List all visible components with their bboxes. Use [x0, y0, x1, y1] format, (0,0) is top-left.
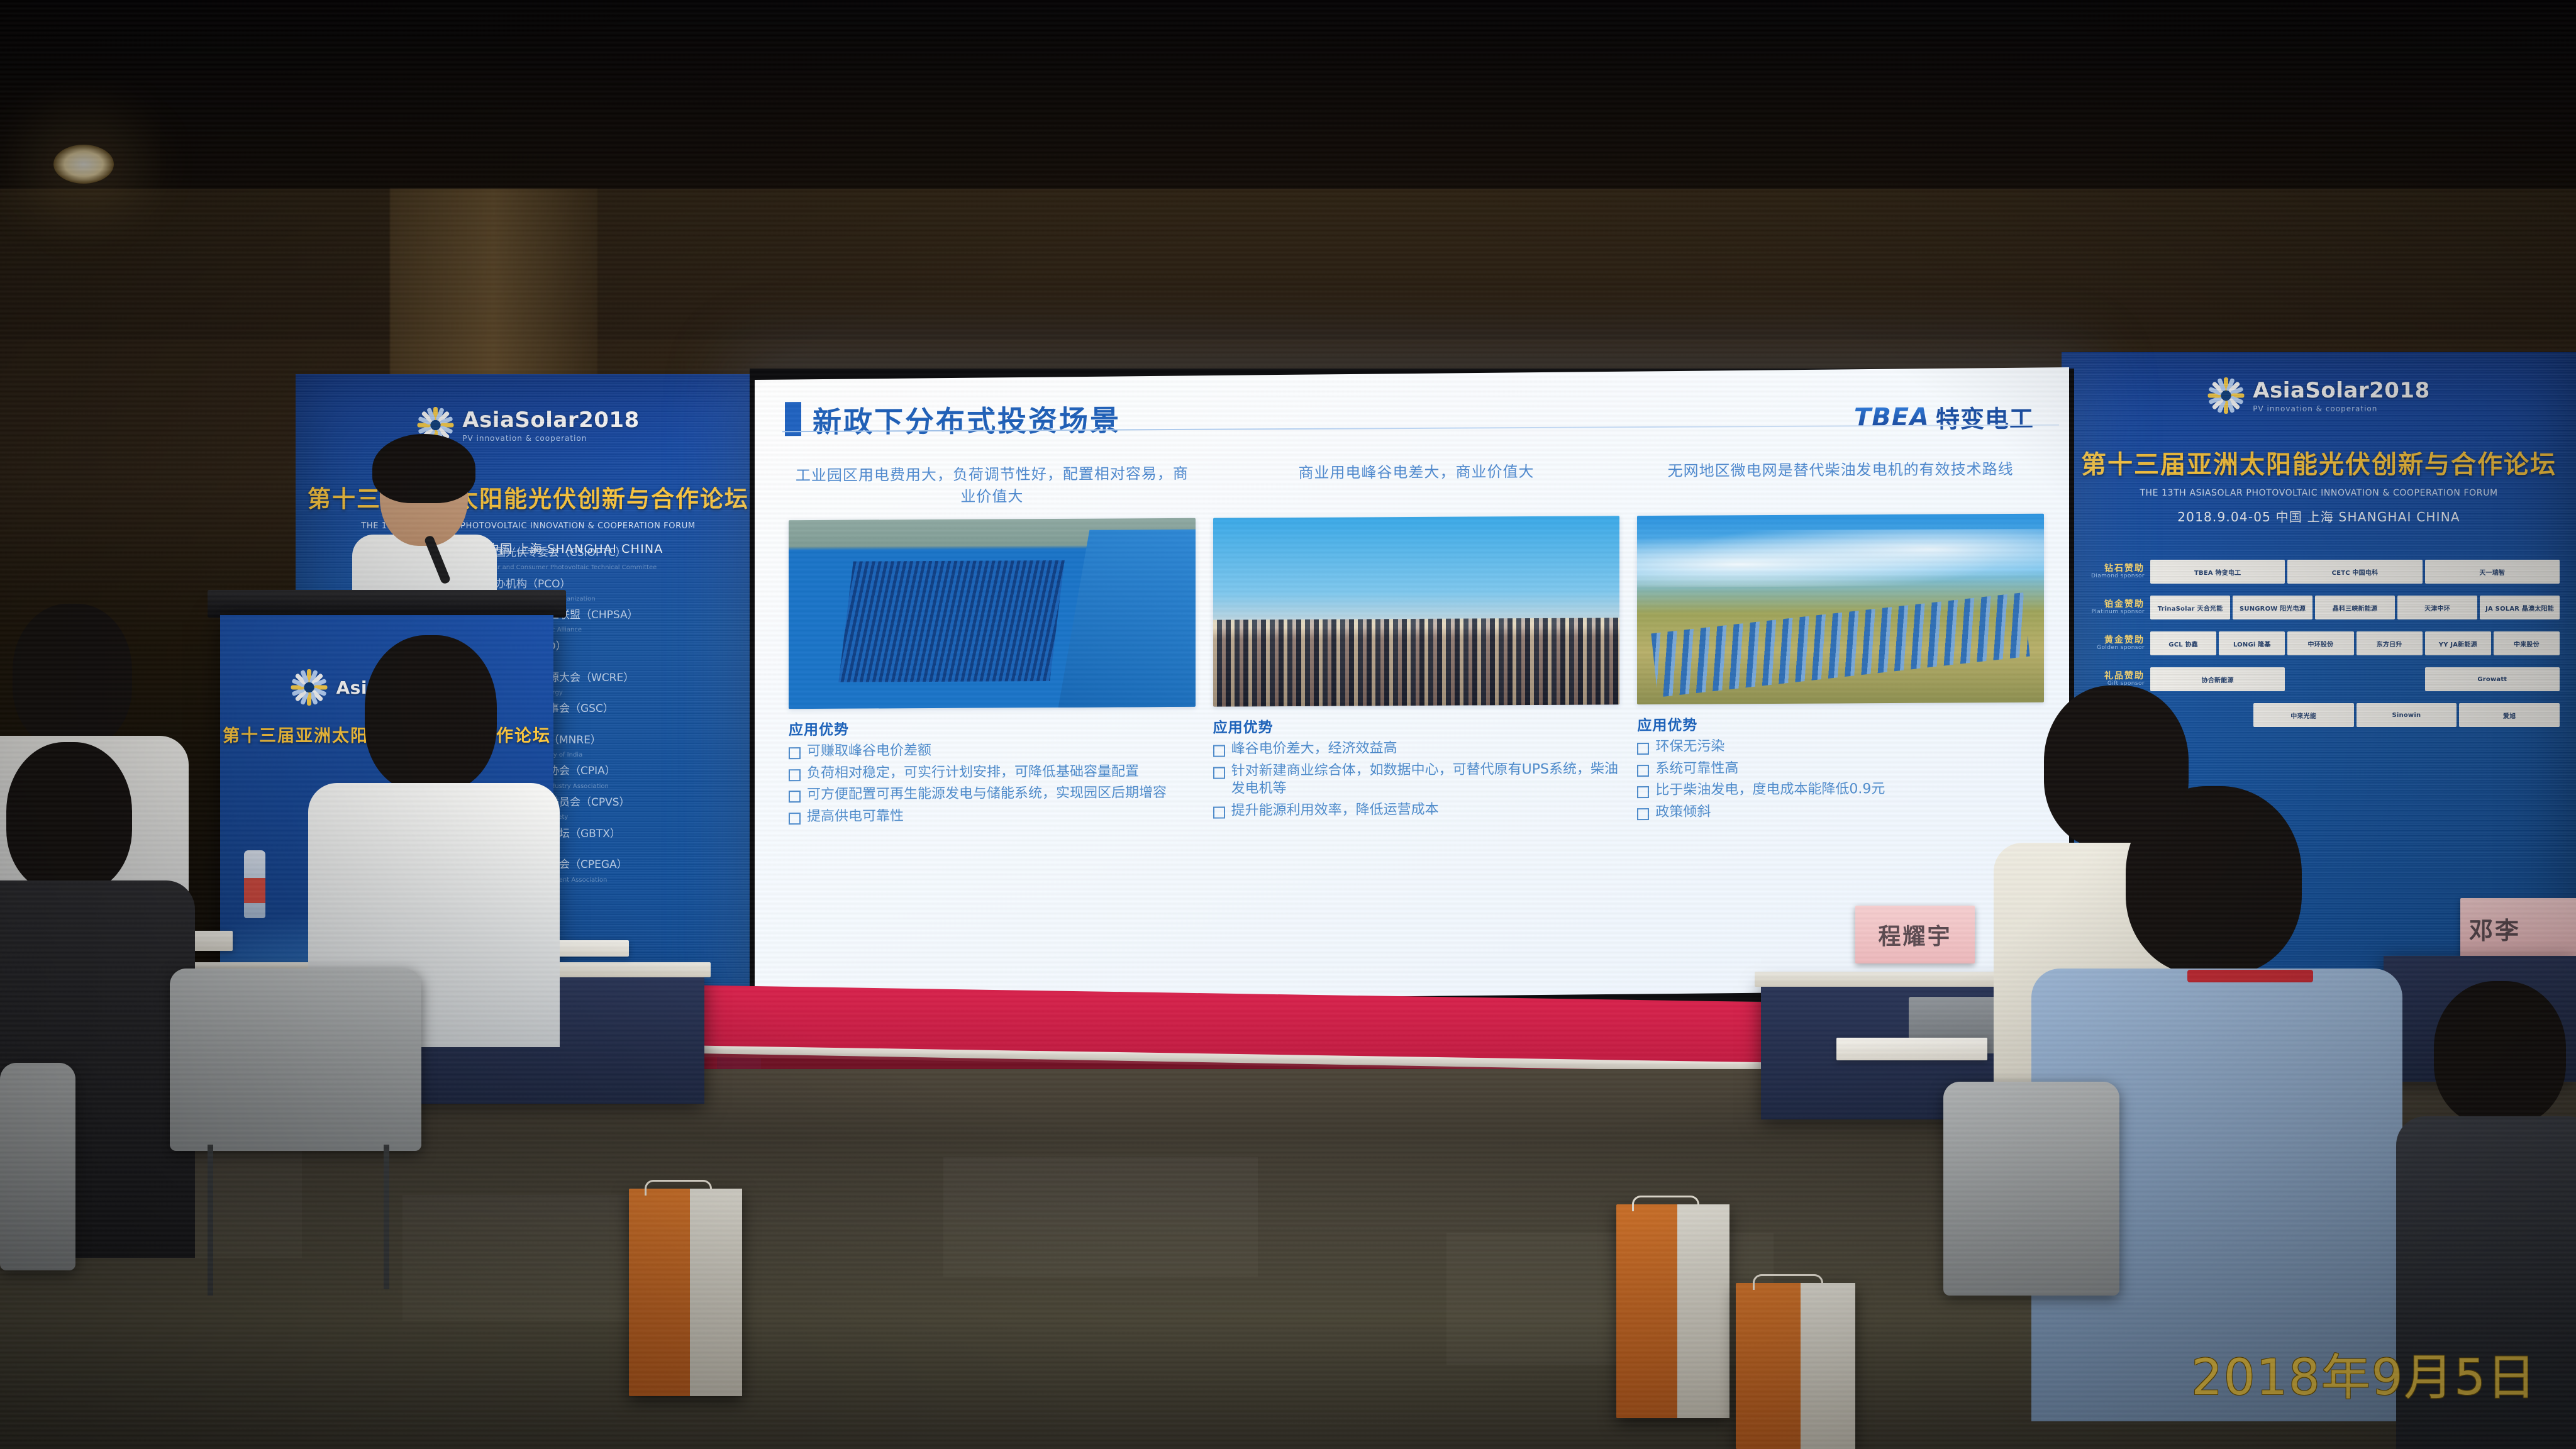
chair-leg: [208, 1145, 213, 1296]
asiasolar-sunburst-icon: [2207, 377, 2244, 414]
chair: [0, 1063, 75, 1270]
checkbox-icon: [1213, 745, 1225, 757]
conference-tote-bag: [1616, 1204, 1729, 1418]
checkbox-icon: [789, 769, 801, 781]
chair: [170, 969, 421, 1151]
water-bottle: [244, 850, 265, 918]
tbea-logo-chinese: 特变电工: [1936, 399, 2034, 435]
advantage-item: 负荷相对稳定，可实行计划安排，可降低基础容量配置: [789, 762, 1196, 782]
sponsor-logo: Sinowin: [2357, 703, 2457, 727]
sponsor-row: 铂金赞助Platinum sponsor TrinaSolar 天合光能 SUN…: [2084, 596, 2560, 619]
column-caption: 商业用电峰谷电差大，商业价值大: [1213, 460, 1620, 514]
lanyard: [2187, 970, 2313, 982]
organizer-item: 中国光伏专委会（CSIOPTC）Solar and Consumer Photo…: [484, 543, 657, 574]
advantage-item: 可赚取峰谷电价差额: [789, 741, 1196, 761]
advantage-item: 针对新建商业综合体，如数据中心，可替代原有UPS系统，柴油发电机等: [1213, 760, 1620, 799]
tbea-logo-latin: TBEA: [1854, 402, 1929, 432]
sponsor-logo: TBEA 特变电工: [2150, 560, 2285, 584]
conference-tote-bag: [629, 1189, 742, 1396]
sponsor-logo: LONGi 隆基: [2219, 631, 2285, 655]
camera-timestamp: 2018年9月5日: [2191, 1338, 2537, 1409]
sponsor-logo: 天津中环: [2397, 596, 2477, 619]
conference-tote-bag: [1736, 1283, 1855, 1449]
advantage-item: 提高供电可靠性: [789, 806, 1196, 826]
slide-title: 新政下分布式投资场景: [813, 397, 1121, 441]
advantage-item: 提升能源利用效率，降低运营成本: [1213, 800, 1620, 820]
sponsor-logo: Growatt: [2425, 667, 2560, 691]
banner-left-logo-word: AsiaSolar: [462, 408, 579, 433]
sponsor-logo: GCL 协鑫: [2150, 631, 2216, 655]
banner-right-title-en: THE 13TH ASIASOLAR PHOTOVOLTAIC INNOVATI…: [2062, 488, 2576, 498]
checkbox-icon: [1637, 808, 1649, 820]
sponsor-logo: CETC 中国电科: [2287, 560, 2422, 584]
chair: [1943, 1082, 2119, 1296]
name-card: 程耀宇: [1855, 906, 1975, 963]
conference-photo: AsiaSolar2018 PV innovation & cooperatio…: [0, 0, 2576, 1449]
ceiling: [0, 0, 2576, 189]
papers-stack: [1836, 1038, 1987, 1060]
banner-right-date: 2018.9.04-05 中国 上海 SHANGHAI CHINA: [2062, 507, 2576, 525]
banner-right-logo-year: 2018: [2369, 378, 2430, 403]
tbea-logo: TBEA 特变电工: [1854, 399, 2034, 435]
city-skyline-photo: [1213, 516, 1620, 706]
sponsor-logo: 爱旭: [2459, 703, 2560, 727]
checkbox-icon: [1637, 786, 1649, 798]
sponsor-logo: 东方日升: [2357, 631, 2423, 655]
industrial-rooftop-pv-photo: [789, 518, 1196, 709]
wall-band-upper: [0, 189, 2576, 340]
banner-right-logo-tagline: PV innovation & cooperation: [2253, 404, 2430, 413]
advantages-heading: 应用优势: [789, 716, 1196, 739]
banner-right-title-cn: 第十三届亚洲太阳能光伏创新与合作论坛: [2062, 444, 2576, 480]
slide-column-commercial: 商业用电峰谷电差大，商业价值大 应用优势 峰谷电价差大，经济效益高 针对新建商业…: [1213, 460, 1620, 984]
advantage-item: 可方便配置可再生能源发电与储能系统，实现园区后期增容: [789, 784, 1196, 804]
column-caption: 无网地区微电网是替代柴油发电机的有效技术路线: [1637, 458, 2044, 512]
ceiling-downlight-icon: [53, 145, 114, 184]
checkbox-icon: [1637, 743, 1649, 755]
sponsor-logo: YY JA新能源: [2425, 631, 2491, 655]
sponsor-logo: 中环股份: [2287, 631, 2353, 655]
sponsor-logo: 中来光能: [2253, 703, 2354, 727]
podium-desktop: [208, 590, 566, 618]
advantage-item: 峰谷电价差大，经济效益高: [1213, 738, 1620, 758]
banner-left-logo-year: 2018: [579, 408, 640, 433]
checkbox-icon: [1637, 765, 1649, 777]
sponsor-logo: JA SOLAR 晶澳太阳能: [2480, 596, 2560, 619]
slide-column-industrial: 工业园区用电费用大，负荷调节性好，配置相对容易，商业价值大 应用优势 可赚取峰谷…: [789, 463, 1196, 987]
checkbox-icon: [1213, 806, 1225, 818]
sponsor-logo: 中来股份: [2494, 631, 2560, 655]
sponsor-logo: TrinaSolar 天合光能: [2150, 596, 2230, 619]
chair-leg: [384, 1145, 389, 1289]
sponsor-row: 钻石赞助Diamond sponsor TBEA 特变电工 CETC 中国电科 …: [2084, 560, 2560, 584]
checkbox-icon: [789, 813, 801, 824]
name-card: 邓李: [2460, 898, 2576, 958]
checkbox-icon: [789, 747, 801, 759]
advantages-heading: 应用优势: [1213, 713, 1620, 736]
checkbox-icon: [1213, 767, 1225, 779]
column-caption: 工业园区用电费用大，负荷调节性好，配置相对容易，商业价值大: [789, 463, 1196, 516]
sponsor-logo: 晶科三峡新能源: [2315, 596, 2395, 619]
sponsor-logo: SUNGROW 阳光电源: [2233, 596, 2312, 619]
checkbox-icon: [789, 791, 801, 802]
sponsor-logo: 天一瑞智: [2425, 560, 2560, 584]
off-grid-microgrid-pv-photo: [1637, 514, 2044, 704]
banner-right-logo-word: AsiaSolar: [2253, 378, 2369, 403]
sponsor-row: 黄金赞助Golden sponsor GCL 协鑫 LONGi 隆基 中环股份 …: [2084, 631, 2560, 655]
